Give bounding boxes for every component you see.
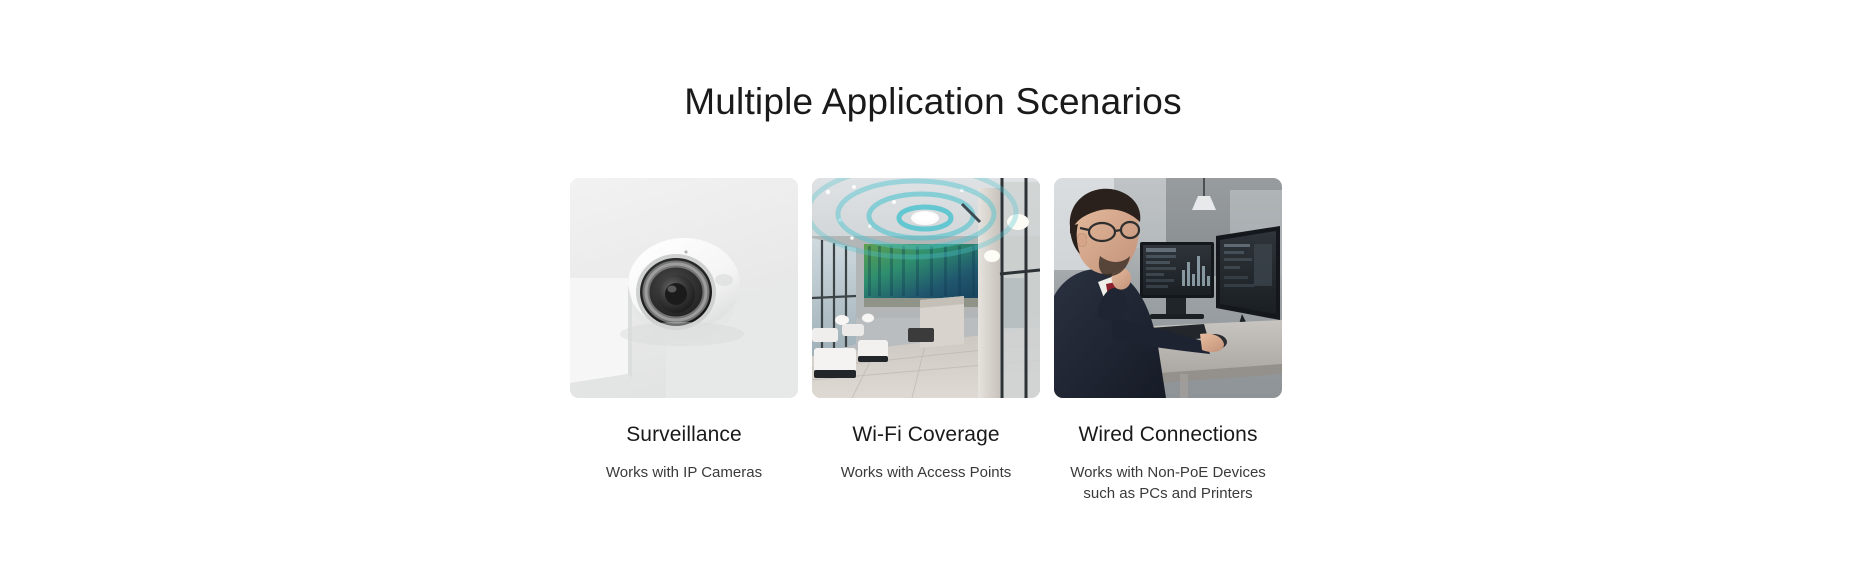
scenario-card-wifi-coverage[interactable]: Wi-Fi Coverage Works with Access Points xyxy=(812,178,1040,483)
scenario-description: Works with Access Points xyxy=(841,462,1012,483)
scenario-card-surveillance[interactable]: Surveillance Works with IP Cameras xyxy=(570,178,798,483)
scenario-card-list: Surveillance Works with IP Cameras xyxy=(570,178,1282,504)
application-scenarios-section: Multiple Application Scenarios xyxy=(0,0,1866,579)
scenario-heading: Surveillance xyxy=(626,422,742,448)
scenario-description-line: Works with IP Cameras xyxy=(606,462,762,483)
scenario-heading: Wired Connections xyxy=(1078,422,1257,448)
page-title: Multiple Application Scenarios xyxy=(0,80,1866,124)
scenario-description: Works with Non-PoE Devices such as PCs a… xyxy=(1070,462,1266,504)
scenario-card-wired-connections[interactable]: Wired Connections Works with Non-PoE Dev… xyxy=(1054,178,1282,504)
scenario-description: Works with IP Cameras xyxy=(606,462,762,483)
wired-connections-photo xyxy=(1054,178,1282,398)
scenario-description-line: such as PCs and Printers xyxy=(1070,483,1266,504)
scenario-heading: Wi-Fi Coverage xyxy=(852,422,999,448)
wifi-coverage-photo xyxy=(812,178,1040,398)
scenario-description-line: Works with Access Points xyxy=(841,462,1012,483)
surveillance-camera-photo xyxy=(570,178,798,398)
scenario-description-line: Works with Non-PoE Devices xyxy=(1070,462,1266,483)
